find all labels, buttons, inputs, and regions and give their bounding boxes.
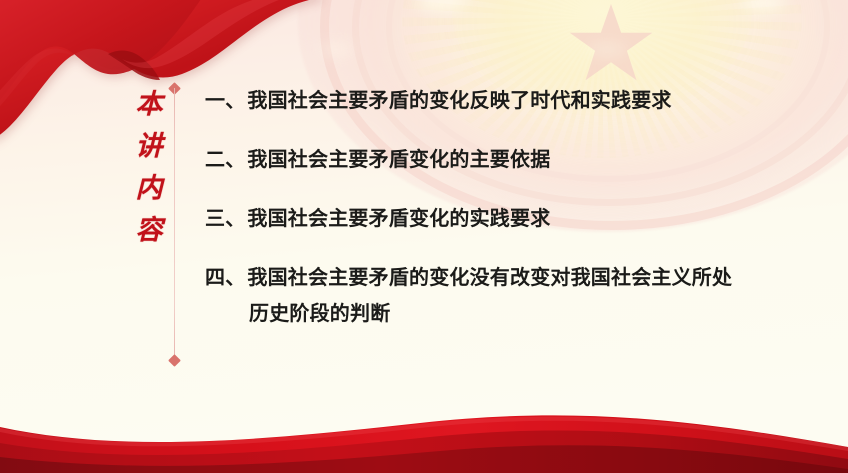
vertical-title-char: 容 (128, 210, 170, 252)
agenda-item-1-number: 一、 (205, 90, 245, 112)
slide-canvas: 本 讲 内 容 一、我国社会主要矛盾的变化反映了时代和实践要求 二、我国社会主要… (0, 0, 848, 473)
agenda-item-4-number: 四、 (205, 267, 245, 289)
agenda-item-3[interactable]: 三、我国社会主要矛盾变化的实践要求 (205, 204, 815, 234)
vertical-title-char: 讲 (128, 126, 170, 168)
divider-cap-bottom-icon (168, 354, 181, 367)
agenda-item-2-text: 我国社会主要矛盾变化的主要依据 (247, 149, 550, 171)
slide-content: 本 讲 内 容 一、我国社会主要矛盾的变化反映了时代和实践要求 二、我国社会主要… (0, 0, 848, 473)
agenda-item-4-text: 我国社会主要矛盾的变化没有改变对我国社会主义所处 (247, 267, 732, 289)
agenda-item-2-number: 二、 (205, 149, 245, 171)
vertical-title-char: 内 (128, 168, 170, 210)
agenda-item-2[interactable]: 二、我国社会主要矛盾变化的主要依据 (205, 145, 815, 175)
agenda-list: 一、我国社会主要矛盾的变化反映了时代和实践要求 二、我国社会主要矛盾变化的主要依… (205, 86, 815, 329)
vertical-title-char: 本 (128, 84, 170, 126)
vertical-section-title: 本 讲 内 容 (128, 84, 170, 252)
vertical-divider (174, 88, 175, 360)
agenda-item-4[interactable]: 四、我国社会主要矛盾的变化没有改变对我国社会主义所处历史阶段的判断 (205, 263, 815, 329)
agenda-item-1[interactable]: 一、我国社会主要矛盾的变化反映了时代和实践要求 (205, 86, 815, 116)
agenda-item-3-number: 三、 (205, 208, 245, 230)
agenda-item-1-text: 我国社会主要矛盾的变化反映了时代和实践要求 (247, 90, 671, 112)
agenda-item-4-continuation: 历史阶段的判断 (205, 299, 815, 329)
agenda-item-3-text: 我国社会主要矛盾变化的实践要求 (247, 208, 550, 230)
